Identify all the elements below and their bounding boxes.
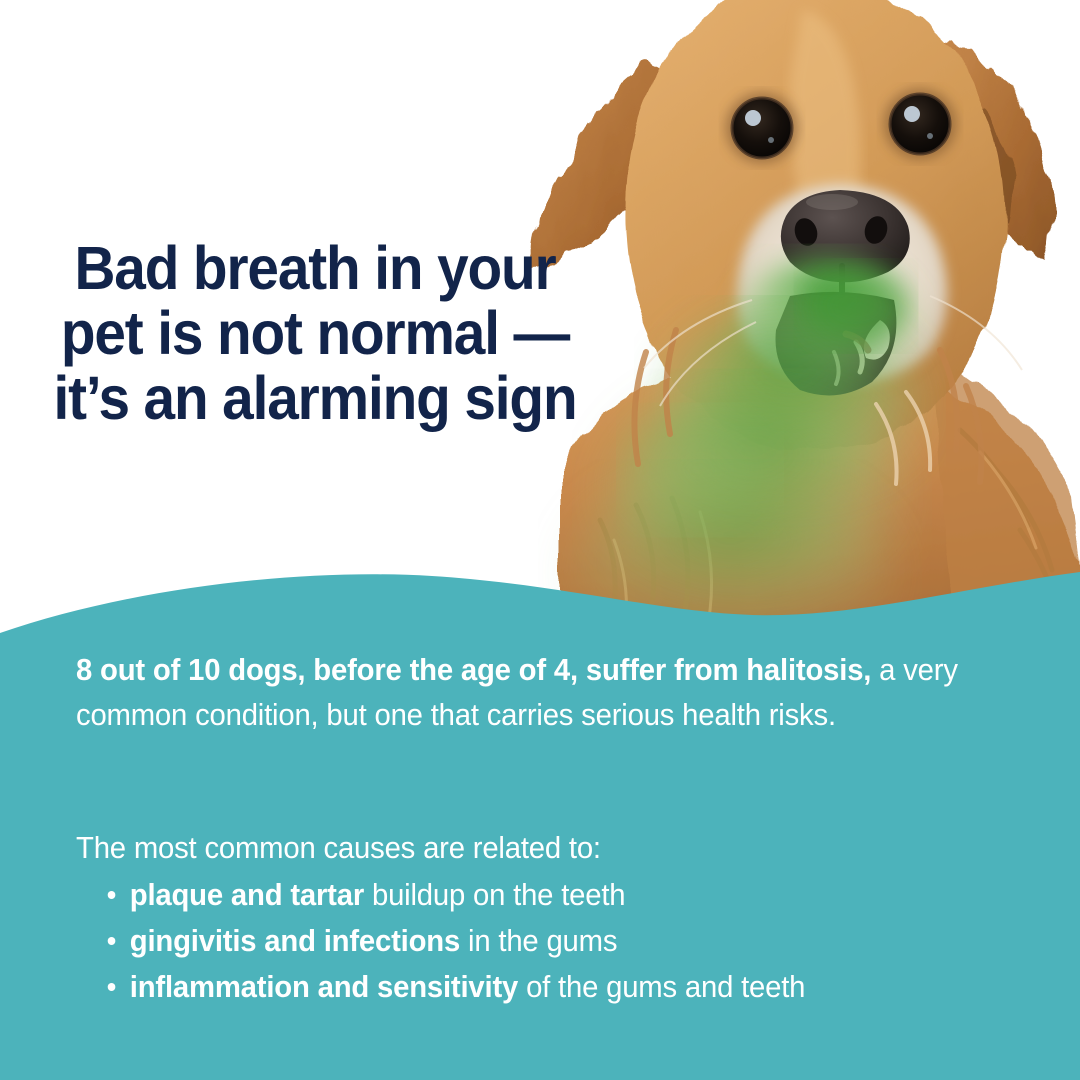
cause-bold: plaque and tartar bbox=[130, 878, 364, 912]
poster-canvas: Bad breath in your pet is not normal — i… bbox=[0, 0, 1080, 1080]
bullet-dot-icon bbox=[108, 891, 116, 899]
bullet-dot-icon bbox=[108, 983, 116, 991]
cause-bold: gingivitis and infections bbox=[130, 924, 460, 958]
cause-rest: buildup on the teeth bbox=[364, 878, 625, 912]
list-item: plaque and tartar buildup on the teeth bbox=[76, 872, 984, 918]
list-item: inflammation and sensitivity of the gums… bbox=[76, 964, 984, 1010]
lead-paragraph: 8 out of 10 dogs, before the age of 4, s… bbox=[76, 648, 984, 738]
cause-rest: of the gums and teeth bbox=[518, 970, 805, 1004]
bullet-dot-icon bbox=[108, 937, 116, 945]
lead-bold-text: 8 out of 10 dogs, before the age of 4, s… bbox=[76, 653, 871, 687]
cause-bold: inflammation and sensitivity bbox=[130, 970, 518, 1004]
dog-right-eye bbox=[884, 89, 956, 159]
page-headline: Bad breath in your pet is not normal — i… bbox=[41, 236, 590, 431]
body-copy-block: 8 out of 10 dogs, before the age of 4, s… bbox=[76, 648, 1022, 738]
cause-rest: in the gums bbox=[460, 924, 617, 958]
dog-left-eye bbox=[726, 93, 798, 163]
causes-list: plaque and tartar buildup on the teeth g… bbox=[76, 872, 1022, 1010]
list-item: gingivitis and infections in the gums bbox=[76, 918, 984, 964]
causes-intro: The most common causes are related to: bbox=[76, 828, 601, 868]
